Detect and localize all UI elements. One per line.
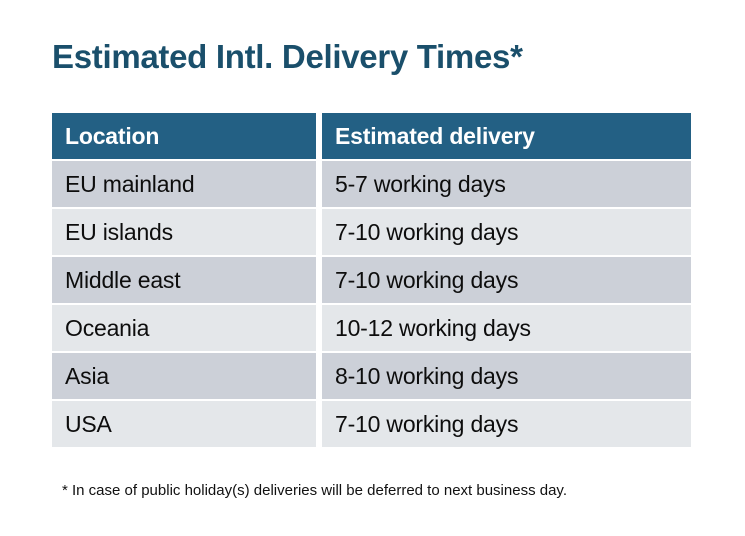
column-header-location: Location bbox=[52, 113, 316, 159]
cell-location: USA bbox=[52, 401, 316, 447]
cell-delivery: 10-12 working days bbox=[322, 305, 691, 351]
table-row: Middle east 7-10 working days bbox=[52, 257, 691, 303]
cell-delivery: 7-10 working days bbox=[322, 209, 691, 255]
cell-location: EU islands bbox=[52, 209, 316, 255]
cell-delivery: 7-10 working days bbox=[322, 401, 691, 447]
table-row: Oceania 10-12 working days bbox=[52, 305, 691, 351]
cell-location: Oceania bbox=[52, 305, 316, 351]
table-row: Asia 8-10 working days bbox=[52, 353, 691, 399]
column-header-estimated-delivery: Estimated delivery bbox=[322, 113, 691, 159]
cell-location: Middle east bbox=[52, 257, 316, 303]
table-row: EU mainland 5-7 working days bbox=[52, 161, 691, 207]
cell-delivery: 7-10 working days bbox=[322, 257, 691, 303]
footnote-public-holiday: * In case of public holiday(s) deliverie… bbox=[62, 481, 567, 501]
table-header-row: Location Estimated delivery bbox=[52, 113, 691, 159]
cell-delivery: 8-10 working days bbox=[322, 353, 691, 399]
table-row: EU islands 7-10 working days bbox=[52, 209, 691, 255]
cell-location: Asia bbox=[52, 353, 316, 399]
cell-location: EU mainland bbox=[52, 161, 316, 207]
delivery-times-table: Location Estimated delivery EU mainland … bbox=[52, 113, 691, 449]
table-row: USA 7-10 working days bbox=[52, 401, 691, 447]
page-title: Estimated Intl. Delivery Times* bbox=[52, 36, 523, 78]
cell-delivery: 5-7 working days bbox=[322, 161, 691, 207]
delivery-times-page: Estimated Intl. Delivery Times* Location… bbox=[0, 0, 745, 536]
